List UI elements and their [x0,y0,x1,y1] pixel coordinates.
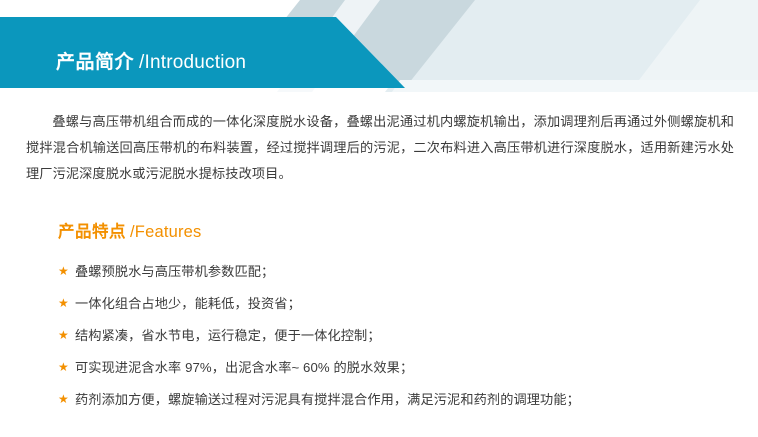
star-icon: ★ [58,260,75,283]
page-title: 产品简介/Introduction [56,53,246,72]
list-item: ★ 药剂添加方便，螺旋输送过程对污泥具有搅拌混合作用，满足污泥和药剂的调理功能； [58,388,738,411]
list-item-text: 一体化组合占地少，能耗低，投资省； [75,292,738,315]
features-heading-cn: 产品特点 [58,223,126,241]
features-heading: 产品特点/Features [58,224,738,241]
intro-paragraph: 叠螺与高压带机组合而成的一体化深度脱水设备，叠螺出泥通过机内螺旋机输出，添加调理… [26,109,734,187]
star-icon: ★ [58,324,75,347]
list-item: ★ 一体化组合占地少，能耗低，投资省； [58,292,738,315]
page-title-cn: 产品简介 [56,52,134,73]
list-item-text: 可实现进泥含水率 97%，出泥含水率~ 60% 的脱水效果； [75,356,738,379]
list-item-text: 药剂添加方便，螺旋输送过程对污泥具有搅拌混合作用，满足污泥和药剂的调理功能； [75,388,738,411]
features-section: 产品特点/Features ★ 叠螺预脱水与高压带机参数匹配； ★ 一体化组合占… [58,224,738,420]
features-heading-en: /Features [130,223,202,241]
list-item: ★ 叠螺预脱水与高压带机参数匹配； [58,260,738,283]
product-introduction-page: 产品简介/Introduction 叠螺与高压带机组合而成的一体化深度脱水设备，… [0,0,758,437]
list-item: ★ 结构紧凑，省水节电，运行稳定，便于一体化控制； [58,324,738,347]
deco-shape-bottom-fade [392,80,758,92]
feature-list: ★ 叠螺预脱水与高压带机参数匹配； ★ 一体化组合占地少，能耗低，投资省； ★ … [58,260,738,411]
star-icon: ★ [58,356,75,379]
header-decoration [0,0,758,92]
page-title-en: /Introduction [139,52,246,73]
star-icon: ★ [58,388,75,411]
star-icon: ★ [58,292,75,315]
list-item-text: 结构紧凑，省水节电，运行稳定，便于一体化控制； [75,324,738,347]
list-item: ★ 可实现进泥含水率 97%，出泥含水率~ 60% 的脱水效果； [58,356,738,379]
list-item-text: 叠螺预脱水与高压带机参数匹配； [75,260,738,283]
